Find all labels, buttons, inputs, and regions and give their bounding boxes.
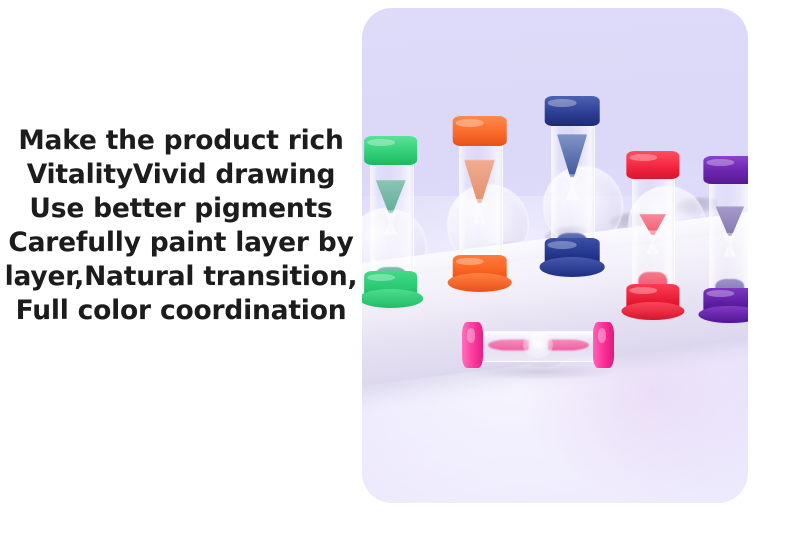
pink-hourglass-cap-right [593,322,614,368]
orange-hourglass [459,127,501,283]
purple-hourglass-cap-top [703,156,748,184]
product-feature-banner: Make the product rich VitalityVivid draw… [0,0,800,551]
product-photo [362,8,748,503]
pink-hourglass-neck [523,332,553,358]
red-hourglass-base-lip [621,302,684,320]
orange-hourglass-cap-top [452,116,507,146]
blue-hourglass-cap-top [545,96,600,126]
red-hourglass [632,161,673,311]
copy-line-6: Full color coordination [0,294,362,328]
orange-hourglass-base-lip [447,273,512,292]
pink-hourglass-cap-left [462,322,483,368]
pink-hourglass [462,322,614,368]
pink-hourglass-sand-right [548,340,589,351]
photo-scene [362,8,748,503]
blue-hourglass [551,107,593,267]
purple-hourglass [709,166,748,314]
red-hourglass-cap-top [626,151,679,180]
copy-line-2: VitalityVivid drawing [0,158,362,192]
copy-line-1: Make the product rich [0,124,362,158]
green-hourglass-cap-top [364,136,418,165]
marketing-copy-block: Make the product rich VitalityVivid draw… [0,124,362,328]
purple-hourglass-base-lip [698,306,748,324]
copy-line-3: Use better pigments [0,192,362,226]
copy-line-4: Carefully paint layer by [0,226,362,260]
blue-hourglass-base-lip [540,257,605,276]
green-hourglass [370,147,412,299]
copy-line-5: layer,Natural transition, [0,260,362,294]
